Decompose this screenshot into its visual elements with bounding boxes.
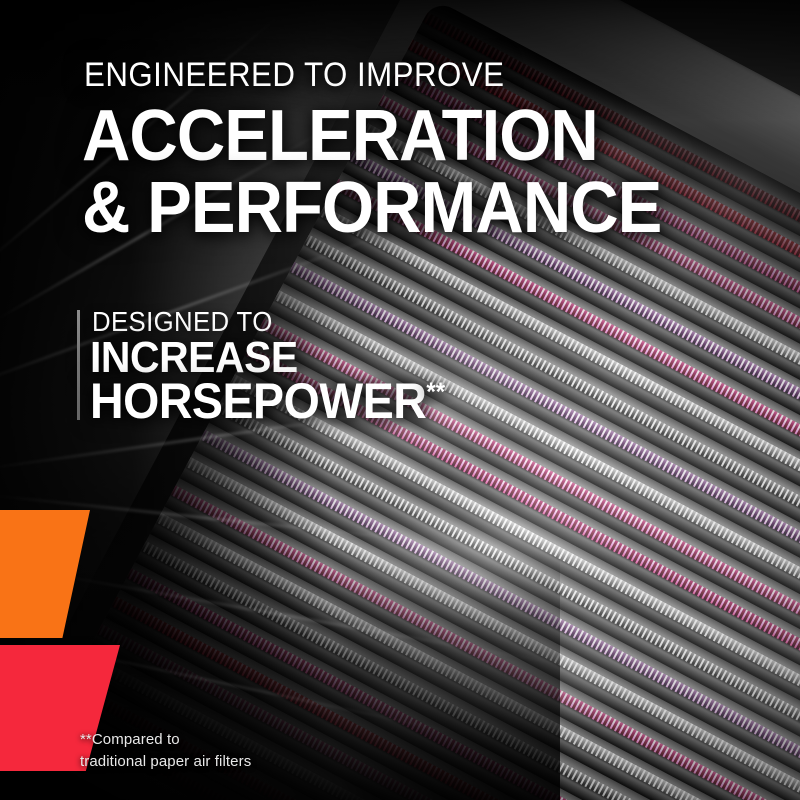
subhead-line-2-text: HORSEPOWER: [90, 373, 426, 429]
footnote: **Compared to traditional paper air filt…: [80, 729, 251, 773]
vertical-rule-divider: [77, 310, 80, 420]
subhead-line-2: HORSEPOWER**: [90, 378, 445, 424]
footnote-line-1: **Compared to: [80, 729, 251, 751]
headline-line-2: & PERFORMANCE: [82, 175, 661, 241]
headline-kicker: ENGINEERED TO IMPROVE: [84, 58, 504, 92]
footnote-line-2: traditional paper air filters: [80, 751, 251, 773]
headline-line-1: ACCELERATION: [82, 103, 598, 169]
promo-banner: ENGINEERED TO IMPROVE ACCELERATION & PER…: [0, 0, 800, 800]
subhead-kicker: DESIGNED TO: [92, 308, 273, 336]
footnote-marker: **: [426, 376, 445, 406]
